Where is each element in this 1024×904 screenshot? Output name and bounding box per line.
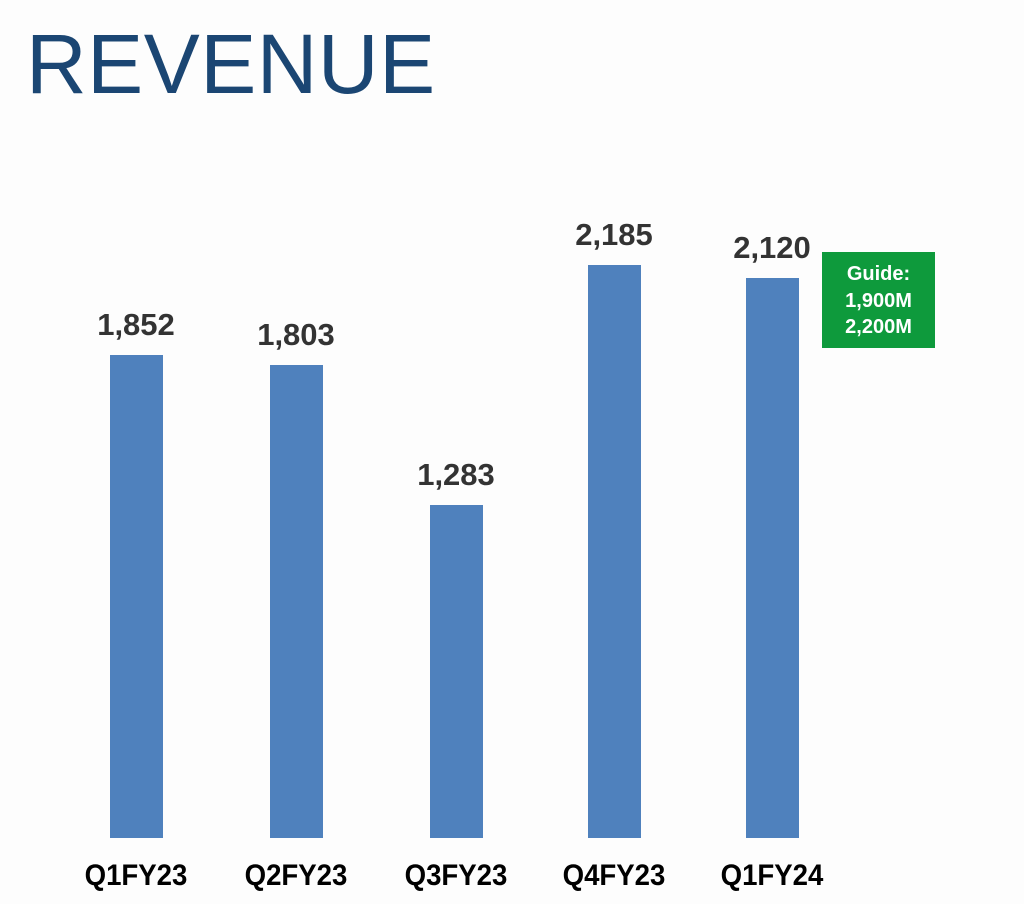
bar-value-label: 1,803	[226, 317, 366, 353]
category-label-q1fy23: Q1FY23	[53, 859, 219, 893]
bar-value-label: 2,185	[544, 217, 684, 253]
bar-q4fy23[interactable]	[588, 265, 641, 838]
bar-value-label: 1,283	[386, 457, 526, 493]
bar-q2fy23[interactable]	[270, 365, 323, 838]
guidance-callout: Guide: 1,900M 2,200M	[822, 252, 935, 348]
guidance-label: Guide:	[847, 261, 910, 288]
category-label-q4fy23: Q4FY23	[531, 859, 697, 893]
guidance-low-value: 1,900M	[845, 288, 912, 315]
bar-q1fy23[interactable]	[110, 355, 163, 838]
bar-value-label: 1,852	[66, 307, 206, 343]
bar-value-label: 2,120	[702, 230, 842, 266]
category-label-q2fy23: Q2FY23	[213, 859, 379, 893]
bar-q1fy24[interactable]	[746, 278, 799, 838]
bar-chart-plot-area: 1,852 Q1FY23 1,803 Q2FY23 1,283 Q3FY23 2…	[0, 0, 1024, 904]
bar-q3fy23[interactable]	[430, 505, 483, 838]
guidance-high-value: 2,200M	[845, 314, 912, 341]
slide-canvas: REVENUE 1,852 Q1FY23 1,803 Q2FY23 1,283 …	[0, 0, 1024, 904]
category-label-q1fy24: Q1FY24	[689, 859, 855, 893]
category-label-q3fy23: Q3FY23	[373, 859, 539, 893]
